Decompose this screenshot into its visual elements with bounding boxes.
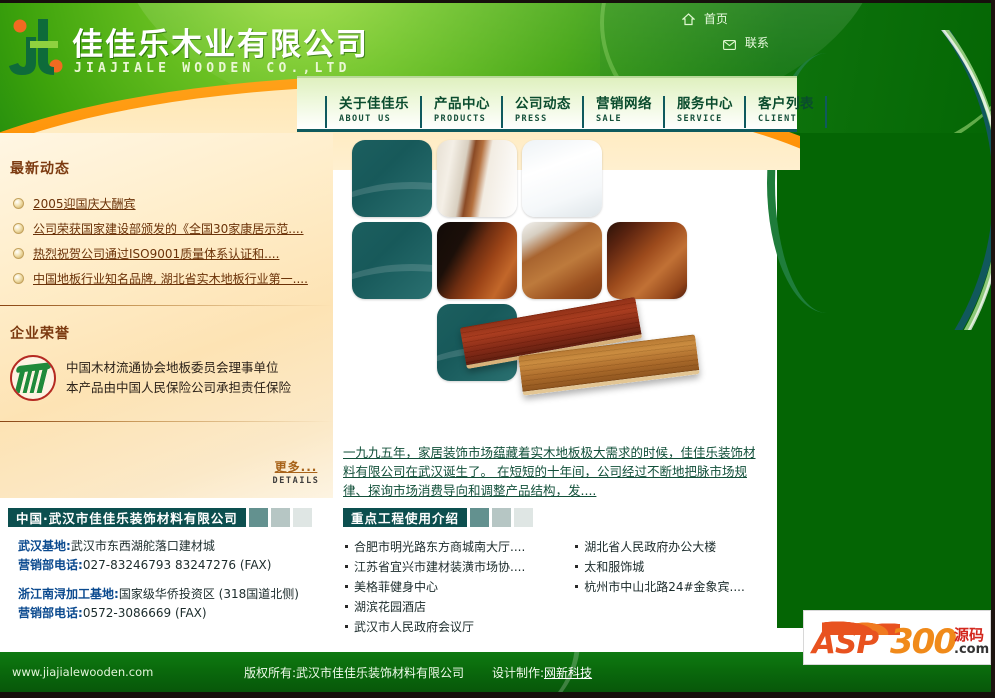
tile-photo-dark <box>437 222 517 299</box>
project-item-label: 湖北省人民政府办公大楼 <box>584 540 716 554</box>
asp300-watermark: ASP 300 源码 .com <box>803 610 991 665</box>
nav-item-client[interactable]: 客户列表 CLIENT <box>744 96 827 128</box>
project-item-label: 美格菲健身中心 <box>354 580 438 594</box>
header-block-3 <box>514 508 533 527</box>
footer-credit-link[interactable]: 网新科技 <box>544 666 592 680</box>
tile-teal-2 <box>352 222 432 299</box>
nav-item-press-cn: 公司动态 <box>515 96 571 112</box>
footer-credit-label: 设计制作: <box>492 666 544 680</box>
nav-item-service-en: SERVICE <box>677 113 733 125</box>
top-link-home[interactable]: 首页 <box>682 10 728 29</box>
project-item[interactable]: 杭州市中山北路24#金象宾.... <box>575 577 770 597</box>
contact-row: 浙江南浔加工基地:国家级华侨投资区 (318国道北侧) <box>18 585 299 604</box>
project-item-label: 湖滨花园酒店 <box>354 600 426 614</box>
project-item-label: 江苏省宜兴市建材装潢市场协.... <box>354 560 525 574</box>
nav-item-about[interactable]: 关于佳佳乐 ABOUT US <box>325 96 420 128</box>
product-collage <box>352 140 762 410</box>
nav-item-client-en: CLIENT <box>758 113 814 125</box>
project-item[interactable]: 湖北省人民政府办公大楼 <box>575 537 770 557</box>
nav-item-about-en: ABOUT US <box>339 113 409 125</box>
square-bullet-icon <box>575 565 578 568</box>
projects-column-1: 合肥市明光路东方商城南大厅.... 江苏省宜兴市建材装潢市场协.... 美格菲健… <box>345 537 561 637</box>
sidebar-divider-1 <box>0 305 333 306</box>
tile-photo-room <box>437 140 517 217</box>
square-bullet-icon <box>345 565 348 568</box>
nav-item-sale-en: SALE <box>596 113 652 125</box>
top-link-home-label: 首页 <box>704 12 728 26</box>
honor-text: 中国木材流通协会地板委员会理事单位 本产品由中国人民保险公司承担责任保险 <box>66 358 291 398</box>
header-block-3 <box>293 508 312 527</box>
tile-photo-white <box>522 140 602 217</box>
window-top-border <box>0 0 995 3</box>
news-item[interactable]: 热烈祝贺公司通过ISO9001质量体系认证和.... <box>6 241 331 266</box>
project-item[interactable]: 美格菲健身中心 <box>345 577 561 597</box>
more-details-link[interactable]: 更多... DETAILS <box>265 458 327 486</box>
contact-info: 武汉基地:武汉市东西湖舵落口建材城 营销部电话:027-83246793 832… <box>18 537 299 623</box>
square-bullet-icon <box>575 545 578 548</box>
square-bullet-icon <box>345 625 348 628</box>
contact-value: 国家级华侨投资区 (318国道北侧) <box>119 587 299 601</box>
contact-row: 营销部电话:0572-3086669 (FAX) <box>18 604 299 623</box>
nav-item-sale-cn: 营销网络 <box>596 96 652 112</box>
footer-credit: 设计制作:网新科技 <box>492 664 592 681</box>
watermark-300: 300 <box>890 625 955 659</box>
projects-column-2: 湖北省人民政府办公大楼 太和服饰城 杭州市中山北路24#金象宾.... <box>575 537 770 637</box>
company-intro-text[interactable]: 一九九五年，家居装饰市场蕴藏着实木地板极大需求的时候，佳佳乐装饰材料有限公司在武… <box>343 443 763 500</box>
square-bullet-icon <box>345 605 348 608</box>
bullet-icon <box>13 198 24 209</box>
nav-item-sale[interactable]: 营销网络 SALE <box>582 96 663 128</box>
project-item-label: 武汉市人民政府会议厅 <box>354 620 474 634</box>
tile-teal-1 <box>352 140 432 217</box>
bullet-icon <box>13 223 24 234</box>
footer-copyright: 版权所有:武汉市佳佳乐装饰材料有限公司 <box>244 664 464 681</box>
honor-block: 中国木材流通协会地板委员会理事单位 本产品由中国人民保险公司承担责任保险 <box>10 355 291 401</box>
project-item[interactable]: 武汉市人民政府会议厅 <box>345 617 561 637</box>
news-item-link[interactable]: 热烈祝贺公司通过ISO9001质量体系认证和.... <box>33 245 279 262</box>
contact-key: 浙江南浔加工基地 <box>18 587 114 601</box>
footer-url: www.jiajialewooden.com <box>12 665 153 679</box>
news-item-link[interactable]: 中国地板行业知名品牌, 湖北省实木地板行业第一.... <box>33 270 308 287</box>
nav-item-service-cn: 服务中心 <box>677 96 733 112</box>
project-item[interactable]: 合肥市明光路东方商城南大厅.... <box>345 537 561 557</box>
news-item[interactable]: 中国地板行业知名品牌, 湖北省实木地板行业第一.... <box>6 266 331 291</box>
nav-item-products-en: PRODUCTS <box>434 113 490 125</box>
square-bullet-icon <box>345 585 348 588</box>
project-item-label: 杭州市中山北路24#金象宾.... <box>584 580 745 594</box>
main-nav: 关于佳佳乐 ABOUT US 产品中心 PRODUCTS 公司动态 PRESS … <box>325 96 827 128</box>
project-item[interactable]: 太和服饰城 <box>575 557 770 577</box>
header-block-2 <box>492 508 511 527</box>
page-root: 佳佳乐木业有限公司 JIAJIALE WOODEN CO.,LTD 首页 联系 <box>0 0 995 698</box>
header-block-1 <box>249 508 268 527</box>
honor-heading: 企业荣誉 <box>10 323 70 343</box>
contact-key: 营销部电话 <box>18 558 78 572</box>
window-right-border <box>991 0 995 698</box>
project-item[interactable]: 湖滨花园酒店 <box>345 597 561 617</box>
header-block-2 <box>271 508 290 527</box>
news-item[interactable]: 公司荣获国家建设部颁发的《全国30家康居示范.... <box>6 216 331 241</box>
watermark-com: .com <box>954 642 989 657</box>
project-item-label: 太和服饰城 <box>584 560 644 574</box>
bullet-icon <box>13 273 24 284</box>
news-item[interactable]: 2005迎国庆大酬宾 <box>6 191 331 216</box>
contact-key: 武汉基地 <box>18 539 66 553</box>
home-icon <box>682 13 695 29</box>
nav-item-service[interactable]: 服务中心 SERVICE <box>663 96 744 128</box>
sidebar-gradient-bg <box>0 133 333 498</box>
more-details-en: DETAILS <box>265 476 327 486</box>
honor-line-2: 本产品由中国人民保险公司承担责任保险 <box>66 378 291 398</box>
logo-company-cn: 佳佳乐木业有限公司 <box>72 19 369 64</box>
contact-panel-title: 中国·武汉市佳佳乐装饰材料有限公司 <box>8 508 246 527</box>
contact-row: 营销部电话:027-83246793 83247276 (FAX) <box>18 556 299 575</box>
nav-item-client-cn: 客户列表 <box>758 96 814 112</box>
news-list: 2005迎国庆大酬宾 公司荣获国家建设部颁发的《全国30家康居示范.... 热烈… <box>6 191 331 291</box>
square-bullet-icon <box>345 545 348 548</box>
projects-list: 合肥市明光路东方商城南大厅.... 江苏省宜兴市建材装潢市场协.... 美格菲健… <box>345 537 770 637</box>
tile-photo-floor <box>522 222 602 299</box>
nav-item-products[interactable]: 产品中心 PRODUCTS <box>420 96 501 128</box>
nav-item-press[interactable]: 公司动态 PRESS <box>501 96 582 128</box>
contact-value: 武汉市东西湖舵落口建材城 <box>71 539 215 553</box>
window-bottom-border <box>0 692 995 698</box>
tile-photo-floor2 <box>607 222 687 299</box>
more-details-cn: 更多... <box>265 458 327 475</box>
square-bullet-icon <box>575 585 578 588</box>
sidebar-divider-2 <box>0 421 333 422</box>
contact-panel-header: 中国·武汉市佳佳乐装饰材料有限公司 <box>8 508 312 527</box>
news-item-link[interactable]: 2005迎国庆大酬宾 <box>33 195 136 212</box>
honor-seal-icon <box>10 355 56 401</box>
nav-item-about-cn: 关于佳佳乐 <box>339 96 409 112</box>
honor-seal-leaf <box>15 366 55 393</box>
honor-line-1: 中国木材流通协会地板委员会理事单位 <box>66 358 291 378</box>
project-item-label: 合肥市明光路东方商城南大厅.... <box>354 540 525 554</box>
header-block-1 <box>470 508 489 527</box>
contact-value: 0572-3086669 (FAX) <box>83 606 207 620</box>
projects-panel-header: 重点工程使用介绍 <box>343 508 533 527</box>
contact-row: 武汉基地:武汉市东西湖舵落口建材城 <box>18 537 299 556</box>
contact-value: 027-83246793 83247276 (FAX) <box>83 558 272 572</box>
nav-item-products-cn: 产品中心 <box>434 96 490 112</box>
project-item[interactable]: 江苏省宜兴市建材装潢市场协.... <box>345 557 561 577</box>
contact-key: 营销部电话 <box>18 606 78 620</box>
watermark-asp: ASP <box>812 628 878 659</box>
news-heading: 最新动态 <box>10 158 70 178</box>
projects-panel-title: 重点工程使用介绍 <box>343 508 467 527</box>
news-item-link[interactable]: 公司荣获国家建设部颁发的《全国30家康居示范.... <box>33 220 304 237</box>
contact-spacer <box>18 575 299 585</box>
bullet-icon <box>13 248 24 259</box>
nav-item-press-en: PRESS <box>515 113 571 125</box>
